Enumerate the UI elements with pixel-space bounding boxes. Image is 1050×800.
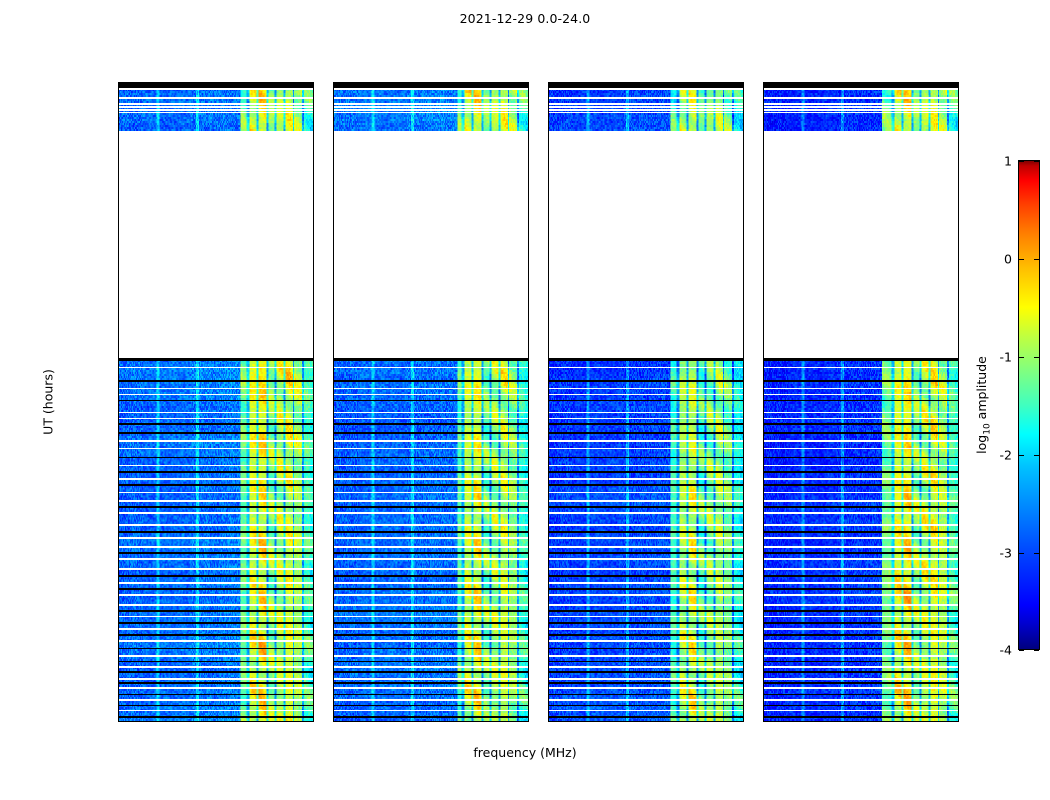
flag-stripe-missing xyxy=(764,628,958,630)
y-tick-right xyxy=(743,590,744,591)
flag-stripe-dark xyxy=(119,716,313,718)
spectrum-panel-yx[interactable]: YX, V11*V12=EA14*EA200510152032033535036… xyxy=(763,82,959,722)
flag-stripe-missing xyxy=(334,465,528,467)
flag-stripe-missing xyxy=(764,478,958,480)
colorbar-tick-right xyxy=(1034,455,1039,456)
flag-stripe-missing xyxy=(119,478,313,480)
flag-stripe-missing xyxy=(549,440,743,442)
flag-stripe-dark xyxy=(334,588,528,590)
flag-stripe-missing xyxy=(119,448,313,449)
flag-stripe-missing xyxy=(764,448,958,449)
y-tick xyxy=(763,323,764,324)
flag-stripe-missing xyxy=(119,388,313,390)
flag-stripe-missing xyxy=(764,604,958,606)
x-axis-label: frequency (MHz) xyxy=(0,745,1050,760)
flag-stripe-missing xyxy=(119,558,313,560)
x-tick xyxy=(904,721,905,722)
flag-stripe-dark xyxy=(119,694,313,696)
flag-stripe-missing xyxy=(334,478,528,480)
flag-stripe-missing xyxy=(119,582,313,584)
flag-stripe-missing xyxy=(549,465,743,467)
flag-stripe-missing xyxy=(549,524,743,526)
flag-stripe-dark xyxy=(119,661,313,663)
flag-stripe-dark xyxy=(549,622,743,624)
flag-stripe-missing xyxy=(549,367,743,369)
flag-stripe-missing xyxy=(764,710,958,712)
y-tick xyxy=(118,590,119,591)
flag-stripe-missing xyxy=(549,388,743,390)
flag-stripe-missing xyxy=(334,640,528,642)
spectrum-panel-yy[interactable]: YY, V11*V12=EA14*EA200510152032033535036… xyxy=(333,82,529,722)
x-tick-top xyxy=(172,82,173,83)
x-tick xyxy=(343,721,344,722)
colorbar-tick xyxy=(1019,161,1024,162)
flag-stripe-dark xyxy=(549,648,743,650)
x-tick xyxy=(216,721,217,722)
y-tick xyxy=(548,456,549,457)
colorbar[interactable]: 10-1-2-3-4 xyxy=(1018,160,1040,650)
flag-stripe-dark xyxy=(119,423,313,425)
flag-stripe-missing xyxy=(334,106,528,107)
y-tick-right xyxy=(743,323,744,324)
flag-stripe-missing xyxy=(119,710,313,712)
heatmap-area-xx xyxy=(119,83,313,721)
flag-stripe-missing xyxy=(334,448,528,449)
flag-stripe-dark xyxy=(334,531,528,533)
flag-stripe-dark xyxy=(334,716,528,718)
heatmap-area-yy xyxy=(334,83,528,721)
flag-stripe-dark xyxy=(334,423,528,425)
x-tick xyxy=(602,721,603,722)
flag-stripe-missing xyxy=(119,666,313,668)
flag-stripe-missing xyxy=(119,394,313,395)
flag-stripe-missing xyxy=(549,88,743,90)
x-tick-top xyxy=(474,82,475,83)
x-tick xyxy=(773,721,774,722)
spectrum-panel-xy[interactable]: XY, V11*V12=EA14*EA200510152032033535036… xyxy=(548,82,744,722)
flag-stripe-dark xyxy=(549,358,743,361)
y-tick xyxy=(333,590,334,591)
flag-stripe-missing xyxy=(119,512,313,514)
x-tick-top xyxy=(602,82,603,83)
flag-stripe-missing xyxy=(119,537,313,539)
flag-stripe-missing xyxy=(764,666,958,668)
flag-stripe-dark xyxy=(334,671,528,673)
flag-stripe-missing xyxy=(549,500,743,502)
flag-stripe-missing xyxy=(764,640,958,642)
flag-stripe-dark xyxy=(764,575,958,577)
flag-stripe-missing xyxy=(549,103,743,104)
flag-stripe-missing xyxy=(549,512,743,514)
flag-stripe-missing xyxy=(334,687,528,689)
flag-stripe-missing xyxy=(764,88,958,90)
flag-stripe-dark xyxy=(119,575,313,577)
flag-stripe-missing xyxy=(334,655,528,657)
flag-stripe-dark xyxy=(549,484,743,486)
flag-stripe-missing xyxy=(119,440,313,442)
flag-stripe-dark xyxy=(549,610,743,612)
flag-stripe-missing xyxy=(334,604,528,606)
x-tick-top xyxy=(904,82,905,83)
flag-stripe-dark xyxy=(119,648,313,650)
flag-stripe-missing xyxy=(334,666,528,668)
flag-stripe-dark xyxy=(764,634,958,636)
flag-stripe-dark xyxy=(764,705,958,707)
flag-stripe-dark xyxy=(119,634,313,636)
flag-stripe-dark xyxy=(119,457,313,459)
flag-stripe-missing xyxy=(549,616,743,618)
x-tick-top xyxy=(259,82,260,83)
x-tick-top xyxy=(861,82,862,83)
flag-stripe-missing xyxy=(764,616,958,618)
x-tick xyxy=(646,721,647,722)
y-tick xyxy=(548,190,549,191)
flag-stripe-dark xyxy=(334,471,528,473)
flag-stripe-missing xyxy=(119,594,313,596)
flag-stripe-dark xyxy=(334,380,528,382)
x-tick xyxy=(689,721,690,722)
flag-stripe-missing xyxy=(119,546,313,548)
flag-stripe-missing xyxy=(334,512,528,514)
flag-stripe-missing xyxy=(119,109,313,110)
flag-stripe-missing xyxy=(119,112,313,113)
flag-stripe-missing xyxy=(119,500,313,502)
flag-stripe-dark xyxy=(334,682,528,684)
flag-stripe-missing xyxy=(549,558,743,560)
flag-stripe-dark xyxy=(549,457,743,459)
flag-stripe-dark xyxy=(334,622,528,624)
flag-stripe-missing xyxy=(764,109,958,110)
flag-stripe-missing xyxy=(334,582,528,584)
flag-stripe-dark xyxy=(549,694,743,696)
flag-stripe-missing xyxy=(764,687,958,689)
flag-stripe-missing xyxy=(119,687,313,689)
y-tick xyxy=(333,456,334,457)
flag-stripe-missing xyxy=(764,699,958,701)
flag-stripe-missing xyxy=(119,628,313,630)
flag-stripe-missing xyxy=(549,678,743,680)
x-tick-top xyxy=(689,82,690,83)
flag-stripe-dark xyxy=(549,634,743,636)
colorbar-label-subscript: 10 xyxy=(982,423,992,434)
flag-stripe-missing xyxy=(764,418,958,419)
heatmap-area-yx xyxy=(764,83,958,721)
flag-stripe-missing xyxy=(549,109,743,110)
flag-stripe-missing xyxy=(334,628,528,630)
x-tick xyxy=(861,721,862,722)
flag-stripe-dark xyxy=(119,432,313,434)
flag-stripe-missing xyxy=(549,106,743,107)
flag-stripe-dark xyxy=(119,622,313,624)
flag-stripe-missing xyxy=(119,655,313,657)
flag-stripe-missing xyxy=(119,604,313,606)
flag-stripe-missing xyxy=(764,106,958,107)
flag-stripe-missing xyxy=(549,394,743,395)
flag-stripe-missing xyxy=(334,616,528,618)
flag-stripe-dark xyxy=(764,671,958,673)
flag-stripe-missing xyxy=(549,699,743,701)
y-tick-right xyxy=(313,190,314,191)
flag-stripe-missing xyxy=(549,418,743,419)
y-tick-right xyxy=(313,323,314,324)
flag-stripe-missing xyxy=(764,678,958,680)
flag-stripe-missing xyxy=(764,394,958,395)
flag-stripe-dark xyxy=(119,506,313,508)
heatmap-area-xy xyxy=(549,83,743,721)
flag-stripe-dark xyxy=(764,552,958,554)
flag-stripe-missing xyxy=(119,640,313,642)
colorbar-tick-label: 0 xyxy=(1004,252,1012,267)
y-tick-right xyxy=(958,190,959,191)
flag-stripe-missing xyxy=(119,88,313,90)
flag-stripe-missing xyxy=(119,616,313,618)
flag-stripe-missing xyxy=(549,655,743,657)
colorbar-tick xyxy=(1019,650,1024,651)
x-tick-top xyxy=(948,82,949,83)
flag-stripe-dark xyxy=(549,682,743,684)
flag-stripe-dark xyxy=(549,575,743,577)
flag-stripe-dark xyxy=(334,634,528,636)
flag-stripe-dark xyxy=(119,400,313,402)
y-tick-right xyxy=(958,323,959,324)
flag-stripe-missing xyxy=(549,537,743,539)
flag-stripe-dark xyxy=(764,610,958,612)
flag-stripe-dark xyxy=(334,610,528,612)
x-tick-top xyxy=(387,82,388,83)
flag-stripe-missing xyxy=(119,524,313,526)
x-tick-top xyxy=(773,82,774,83)
flag-stripe-missing xyxy=(549,112,743,113)
flag-stripe-dark xyxy=(549,552,743,554)
flag-stripe-missing xyxy=(764,500,958,502)
flag-stripe-missing xyxy=(764,388,958,390)
flag-stripe-missing xyxy=(549,492,743,494)
flag-stripe-missing xyxy=(549,710,743,712)
flag-stripe-missing xyxy=(334,699,528,701)
colorbar-label-tail: amplitude xyxy=(974,356,989,423)
flag-stripe-missing xyxy=(764,537,958,539)
x-tick xyxy=(259,721,260,722)
colorbar-label: log10 amplitude xyxy=(974,356,993,454)
y-tick-right xyxy=(743,190,744,191)
flag-stripe-missing xyxy=(334,524,528,526)
colorbar-tick-right xyxy=(1034,553,1039,554)
flag-stripe-missing xyxy=(334,492,528,494)
flag-stripe-dark xyxy=(119,588,313,590)
flag-stripe-missing xyxy=(334,678,528,680)
flag-stripe-missing xyxy=(334,109,528,110)
colorbar-tick-label: 1 xyxy=(1004,154,1012,169)
x-tick xyxy=(558,721,559,722)
x-tick-top xyxy=(343,82,344,83)
flag-stripe-dark xyxy=(549,588,743,590)
flag-stripe-missing xyxy=(549,478,743,480)
flag-stripe-dark xyxy=(764,531,958,533)
flag-stripe-dark xyxy=(119,358,313,361)
flag-stripe-dark xyxy=(764,380,958,382)
colorbar-tick-right xyxy=(1034,259,1039,260)
flag-stripe-dark xyxy=(549,705,743,707)
flag-stripe-missing xyxy=(764,103,958,104)
flag-stripe-dark xyxy=(119,671,313,673)
flag-stripe-missing xyxy=(764,492,958,494)
flag-stripe-missing xyxy=(119,103,313,104)
spectrum-panel-xx[interactable]: XX, V11*V12=EA14*EA200510152032033535036… xyxy=(118,82,314,722)
x-tick xyxy=(474,721,475,722)
flag-stripe-missing xyxy=(764,412,958,414)
colorbar-tick xyxy=(1019,357,1024,358)
flag-stripe-missing xyxy=(549,604,743,606)
flag-stripe-missing xyxy=(334,97,528,99)
flag-stripe-dark xyxy=(334,358,528,361)
flag-stripe-dark xyxy=(119,705,313,707)
flag-stripe-dark xyxy=(119,484,313,486)
flag-stripe-missing xyxy=(119,465,313,467)
flag-stripe-missing xyxy=(334,388,528,390)
flag-stripe-missing xyxy=(549,594,743,596)
colorbar-tick-label: -1 xyxy=(1000,350,1012,365)
flag-stripe-missing xyxy=(334,103,528,104)
x-tick-top xyxy=(303,82,304,83)
flag-stripe-dark xyxy=(764,588,958,590)
flag-stripe-missing xyxy=(119,106,313,107)
flag-stripe-dark xyxy=(549,531,743,533)
x-tick-top xyxy=(518,82,519,83)
flag-stripe-dark xyxy=(764,457,958,459)
flag-stripe-dark xyxy=(334,400,528,402)
x-tick xyxy=(518,721,519,722)
flag-stripe-dark xyxy=(764,423,958,425)
colorbar-tick-right xyxy=(1034,357,1039,358)
y-tick-right xyxy=(313,590,314,591)
flag-stripe-missing xyxy=(119,568,313,570)
flag-stripe-dark xyxy=(334,457,528,459)
flag-stripe-dark xyxy=(549,671,743,673)
flag-stripe-missing xyxy=(334,394,528,395)
flag-stripe-missing xyxy=(764,655,958,657)
flag-stripe-dark xyxy=(549,716,743,718)
x-tick xyxy=(817,721,818,722)
flag-stripe-dark xyxy=(334,506,528,508)
y-tick xyxy=(333,323,334,324)
y-tick xyxy=(118,323,119,324)
flag-stripe-missing xyxy=(334,710,528,712)
flag-stripe-missing xyxy=(764,568,958,570)
flag-stripe-dark xyxy=(334,694,528,696)
flag-stripe-missing xyxy=(119,412,313,414)
flag-stripe-missing xyxy=(334,594,528,596)
figure-canvas: 2021-12-29 0.0-24.0 XX, V11*V12=EA14*EA2… xyxy=(0,0,1050,800)
flag-stripe-missing xyxy=(764,512,958,514)
flag-stripe-dark xyxy=(764,661,958,663)
flag-stripe-dark xyxy=(764,694,958,696)
x-tick xyxy=(431,721,432,722)
x-tick-top xyxy=(646,82,647,83)
flag-stripe-dark xyxy=(764,622,958,624)
flag-stripe-dark xyxy=(764,400,958,402)
flag-stripe-dark xyxy=(764,471,958,473)
flag-stripe-missing xyxy=(334,412,528,414)
x-tick xyxy=(387,721,388,722)
x-tick xyxy=(733,721,734,722)
flag-stripe-dark xyxy=(549,661,743,663)
x-tick xyxy=(948,721,949,722)
flag-stripe-dark xyxy=(119,380,313,382)
flag-stripe-missing xyxy=(549,582,743,584)
x-tick xyxy=(303,721,304,722)
colorbar-tick-right xyxy=(1034,650,1039,651)
y-tick xyxy=(548,590,549,591)
flag-stripe-dark xyxy=(764,484,958,486)
colorbar-tick-right xyxy=(1034,161,1039,162)
flag-stripe-dark xyxy=(549,506,743,508)
x-tick-top xyxy=(817,82,818,83)
flag-stripe-dark xyxy=(764,648,958,650)
flag-stripe-dark xyxy=(119,682,313,684)
flag-stripe-dark xyxy=(119,531,313,533)
figure-suptitle: 2021-12-29 0.0-24.0 xyxy=(0,11,1050,26)
x-tick xyxy=(172,721,173,722)
flag-stripe-dark xyxy=(764,682,958,684)
flag-stripe-missing xyxy=(119,699,313,701)
flag-stripe-missing xyxy=(334,367,528,369)
flag-stripe-missing xyxy=(549,97,743,99)
flag-stripe-missing xyxy=(334,568,528,570)
flag-stripe-missing xyxy=(764,440,958,442)
y-tick xyxy=(763,190,764,191)
flag-stripe-missing xyxy=(549,412,743,414)
flag-stripe-dark xyxy=(334,552,528,554)
flag-stripe-dark xyxy=(549,400,743,402)
flag-stripe-dark xyxy=(764,358,958,361)
flag-stripe-dark xyxy=(549,380,743,382)
flag-stripe-missing xyxy=(764,524,958,526)
y-tick-right xyxy=(958,590,959,591)
colorbar-label-main: log xyxy=(974,435,989,454)
flag-stripe-dark xyxy=(334,432,528,434)
y-tick xyxy=(548,323,549,324)
x-tick-top xyxy=(128,82,129,83)
y-tick xyxy=(763,456,764,457)
y-tick-right xyxy=(958,456,959,457)
y-tick-right xyxy=(743,456,744,457)
y-tick-right xyxy=(528,323,529,324)
colorbar-tick xyxy=(1019,455,1024,456)
flag-stripe-missing xyxy=(764,97,958,99)
flag-stripe-dark xyxy=(549,471,743,473)
flag-stripe-missing xyxy=(334,546,528,548)
flag-stripe-dark xyxy=(334,661,528,663)
flag-stripe-missing xyxy=(119,97,313,99)
flag-stripe-missing xyxy=(334,440,528,442)
flag-stripe-missing xyxy=(334,537,528,539)
flag-stripe-missing xyxy=(334,88,528,90)
flag-stripe-missing xyxy=(119,367,313,369)
x-tick-top xyxy=(431,82,432,83)
x-tick-top xyxy=(733,82,734,83)
y-tick-right xyxy=(528,590,529,591)
flag-stripe-dark xyxy=(764,716,958,718)
flag-stripe-missing xyxy=(764,465,958,467)
flag-stripe-dark xyxy=(334,575,528,577)
flag-stripe-missing xyxy=(334,558,528,560)
flag-stripe-missing xyxy=(764,112,958,113)
flag-stripe-missing xyxy=(549,640,743,642)
flag-stripe-missing xyxy=(334,418,528,419)
y-axis-label: UT (hours) xyxy=(41,369,56,435)
flag-stripe-missing xyxy=(764,594,958,596)
y-tick-right xyxy=(528,190,529,191)
